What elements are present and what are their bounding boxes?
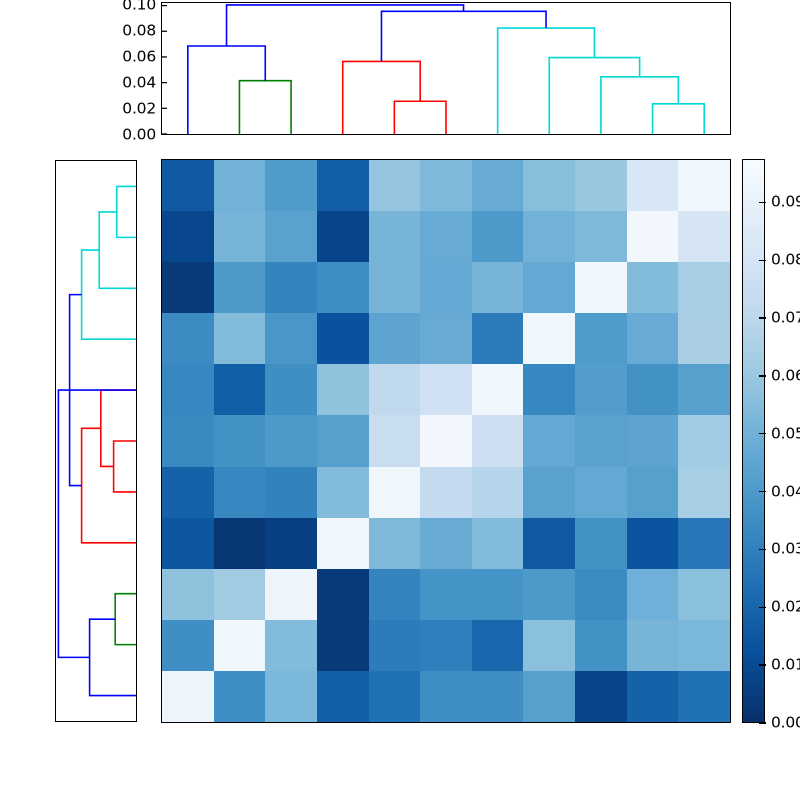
heatmap-cell <box>369 620 421 671</box>
heatmap-cell <box>472 415 524 466</box>
heatmap-cell <box>369 364 421 415</box>
heatmap-cell <box>265 620 317 671</box>
colorbar-tick-mark <box>759 433 766 434</box>
top-dendrogram-tick-label: 0.02 <box>122 101 156 117</box>
heatmap-cell <box>369 518 421 569</box>
heatmap-cell <box>523 620 575 671</box>
heatmap-cell <box>678 415 730 466</box>
heatmap-cell <box>317 313 369 364</box>
top-dendrogram-tick-label: 0.06 <box>122 49 156 65</box>
heatmap-cell <box>162 313 214 364</box>
heatmap-cell <box>162 620 214 671</box>
heatmap-cell <box>472 569 524 620</box>
top-dendrogram-tick-label: 0.08 <box>122 23 156 39</box>
heatmap-cell <box>678 313 730 364</box>
left-dendrogram-plot <box>56 161 136 721</box>
heatmap-matrix <box>161 159 731 723</box>
heatmap-cell <box>678 364 730 415</box>
heatmap-cell <box>420 620 472 671</box>
heatmap-cell <box>523 415 575 466</box>
heatmap-cell <box>420 518 472 569</box>
heatmap-cell <box>369 262 421 313</box>
heatmap-cell <box>575 364 627 415</box>
colorbar-tick-label: 0.01 <box>771 657 800 673</box>
top-dendrogram-axis-labels: 0.000.020.040.060.080.10 <box>104 0 156 145</box>
heatmap-cell <box>523 211 575 262</box>
heatmap-cell <box>575 415 627 466</box>
colorbar-tick-label: 0.04 <box>771 484 800 500</box>
heatmap-cell <box>369 415 421 466</box>
dendrogram-link <box>601 77 678 134</box>
heatmap-cell <box>472 671 524 722</box>
heatmap-cell <box>265 467 317 518</box>
heatmap-cell <box>214 569 266 620</box>
dendrogram-link <box>82 428 136 543</box>
heatmap-cell <box>162 160 214 211</box>
colorbar-tick-mark <box>759 607 766 608</box>
heatmap-cell <box>214 518 266 569</box>
heatmap-cell <box>575 569 627 620</box>
heatmap-cell <box>420 364 472 415</box>
colorbar-tick-mark <box>759 375 766 376</box>
heatmap-cell <box>162 569 214 620</box>
heatmap-cell <box>162 467 214 518</box>
colorbar-tick-label: 0.03 <box>771 542 800 558</box>
heatmap-cell <box>162 211 214 262</box>
heatmap-cell <box>265 415 317 466</box>
heatmap-cell <box>472 160 524 211</box>
heatmap-cell <box>523 518 575 569</box>
heatmap-cell <box>214 467 266 518</box>
heatmap-cell <box>627 415 679 466</box>
top-dendrogram-tick-label: 0.10 <box>122 0 156 12</box>
heatmap-cell <box>420 262 472 313</box>
colorbar-tick-mark <box>759 202 766 203</box>
dendrogram-link <box>90 619 136 695</box>
dendrogram-link <box>653 104 705 134</box>
heatmap-cell <box>523 671 575 722</box>
heatmap-cell <box>369 160 421 211</box>
colorbar-tick-mark <box>759 722 766 723</box>
heatmap-cell <box>575 518 627 569</box>
heatmap-cell <box>420 671 472 722</box>
heatmap-cell <box>420 160 472 211</box>
heatmap-cell <box>523 313 575 364</box>
heatmap-cell <box>265 671 317 722</box>
heatmap-cell <box>265 262 317 313</box>
heatmap-cell <box>420 415 472 466</box>
colorbar-ticks: 0.000.010.020.030.040.050.060.070.080.09 <box>742 159 798 723</box>
heatmap-cell <box>627 262 679 313</box>
heatmap-cell <box>678 160 730 211</box>
heatmap-cell <box>265 364 317 415</box>
heatmap-cell <box>162 364 214 415</box>
colorbar-tick-mark <box>759 549 766 550</box>
heatmap-cell <box>317 671 369 722</box>
heatmap-cell <box>214 160 266 211</box>
dendrogram-link <box>99 212 136 288</box>
heatmap-cell <box>369 211 421 262</box>
dendrogram-link <box>115 594 136 645</box>
heatmap-cell <box>265 569 317 620</box>
heatmap-cell <box>472 262 524 313</box>
heatmap-cell <box>575 620 627 671</box>
dendrogram-link <box>381 11 546 61</box>
heatmap-cell <box>575 262 627 313</box>
heatmap-cell <box>472 518 524 569</box>
heatmap-cell <box>627 569 679 620</box>
heatmap-cell <box>678 671 730 722</box>
heatmap-cell <box>627 364 679 415</box>
heatmap-cell <box>162 671 214 722</box>
heatmap-cell <box>214 364 266 415</box>
heatmap-cell <box>369 569 421 620</box>
heatmap-cell <box>162 262 214 313</box>
heatmap-cell <box>523 467 575 518</box>
heatmap-cell <box>162 518 214 569</box>
heatmap-cell <box>317 620 369 671</box>
heatmap-cell <box>317 569 369 620</box>
heatmap-cell <box>162 415 214 466</box>
heatmap-cell <box>627 620 679 671</box>
heatmap-cell <box>627 211 679 262</box>
heatmap-cell <box>627 518 679 569</box>
heatmap-cell <box>678 467 730 518</box>
heatmap-cell <box>420 467 472 518</box>
colorbar-tick-mark <box>759 260 766 261</box>
heatmap-cell <box>575 160 627 211</box>
heatmap-cell <box>369 467 421 518</box>
colorbar-tick-label: 0.00 <box>771 715 800 731</box>
heatmap-cell <box>317 364 369 415</box>
heatmap-cell <box>265 518 317 569</box>
heatmap-cell <box>317 518 369 569</box>
heatmap-cell <box>575 211 627 262</box>
colorbar-tick-label: 0.06 <box>771 368 800 384</box>
colorbar-tick-label: 0.09 <box>771 195 800 211</box>
heatmap-cell <box>627 671 679 722</box>
top-dendrogram <box>161 2 731 135</box>
heatmap-cell <box>317 262 369 313</box>
heatmap-grid <box>162 160 730 722</box>
dendrogram-link <box>82 250 136 339</box>
heatmap-cell <box>523 569 575 620</box>
heatmap-cell <box>575 671 627 722</box>
heatmap-cell <box>214 671 266 722</box>
heatmap-cell <box>523 262 575 313</box>
heatmap-cell <box>678 569 730 620</box>
heatmap-cell <box>420 569 472 620</box>
colorbar-tick-mark <box>759 491 766 492</box>
colorbar-tick-label: 0.02 <box>771 600 800 616</box>
heatmap-cell <box>627 160 679 211</box>
heatmap-cell <box>523 364 575 415</box>
colorbar-tick-mark <box>759 317 766 318</box>
heatmap-cell <box>420 313 472 364</box>
heatmap-cell <box>265 211 317 262</box>
heatmap-cell <box>575 467 627 518</box>
heatmap-cell <box>627 467 679 518</box>
colorbar-tick-label: 0.05 <box>771 426 800 442</box>
heatmap-cell <box>214 211 266 262</box>
dendrogram-link <box>117 186 136 237</box>
heatmap-cell <box>317 415 369 466</box>
heatmap-cell <box>317 211 369 262</box>
heatmap-cell <box>472 620 524 671</box>
colorbar-tick-label: 0.08 <box>771 252 800 268</box>
heatmap-cell <box>678 518 730 569</box>
heatmap-cell <box>214 620 266 671</box>
heatmap-cell <box>265 313 317 364</box>
colorbar-tick-label: 0.07 <box>771 310 800 326</box>
heatmap-cell <box>472 467 524 518</box>
dendrogram-link <box>549 58 639 134</box>
left-dendrogram <box>55 160 137 722</box>
dendrogram-link <box>101 390 136 466</box>
heatmap-cell <box>420 211 472 262</box>
top-dendrogram-plot <box>162 3 730 134</box>
heatmap-cell <box>214 262 266 313</box>
heatmap-cell <box>472 313 524 364</box>
heatmap-cell <box>678 620 730 671</box>
dendrogram-link <box>498 28 595 134</box>
heatmap-cell <box>317 160 369 211</box>
heatmap-cell <box>472 211 524 262</box>
heatmap-cell <box>369 671 421 722</box>
heatmap-cell <box>627 313 679 364</box>
heatmap-cell <box>369 313 421 364</box>
heatmap-cell <box>472 364 524 415</box>
heatmap-cell <box>678 211 730 262</box>
heatmap-cell <box>575 313 627 364</box>
heatmap-cell <box>678 262 730 313</box>
heatmap-cell <box>214 313 266 364</box>
dendrogram-link <box>188 46 265 134</box>
heatmap-cell <box>523 160 575 211</box>
dendrogram-link <box>114 441 136 492</box>
top-dendrogram-tick-label: 0.00 <box>122 127 156 143</box>
heatmap-cell <box>265 160 317 211</box>
top-dendrogram-tick-label: 0.04 <box>122 75 156 91</box>
colorbar-tick-mark <box>759 664 766 665</box>
heatmap-cell <box>317 467 369 518</box>
dendrogram-link <box>343 61 420 134</box>
dendrogram-link <box>394 101 446 134</box>
heatmap-cell <box>214 415 266 466</box>
dendrogram-link <box>239 81 291 134</box>
